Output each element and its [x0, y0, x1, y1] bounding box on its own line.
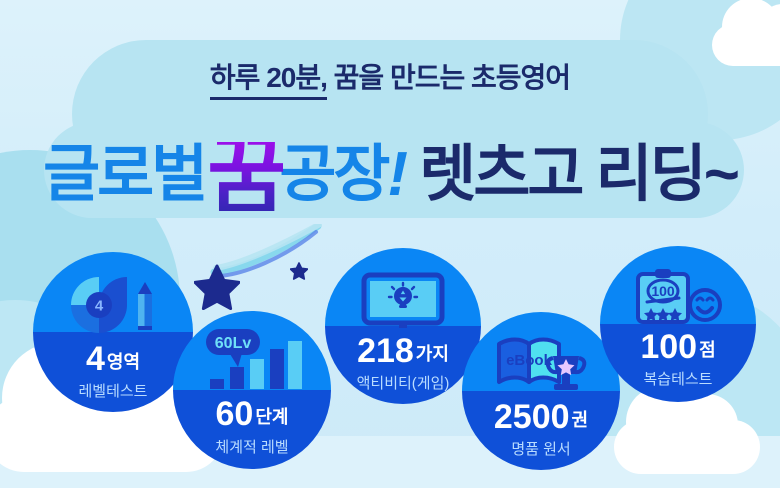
shooting-star-icon [194, 264, 240, 310]
badge-unit: 권 [572, 410, 589, 430]
badge-number-row: 218가지 [325, 332, 481, 371]
badge-level-test[interactable]: 4 4영역 레벨테스트 [33, 252, 193, 412]
clipboard: 100 [638, 269, 688, 322]
badge-number: 4 [86, 340, 105, 379]
badge-number: 100 [640, 328, 697, 367]
bar-chart-level-icon: 60Lv [200, 327, 304, 393]
badge-caption: 명품 원서 [462, 438, 620, 459]
badge-icon-wrap: 60Lv [173, 327, 331, 393]
pie-chart-pencil-icon: 4 [65, 274, 161, 336]
monitor-lightbulb-icon [361, 272, 445, 332]
banner-subtitle-underlined: 하루 20분, [210, 62, 327, 100]
badge-icon-wrap: 100 [600, 268, 756, 326]
badge-caption: 레벨테스트 [33, 380, 193, 401]
badge-number-row: 60단계 [173, 395, 331, 434]
headline-exclamation: ! [387, 140, 405, 209]
banner-subtitle: 하루 20분, 꿈을 만드는 초등영어 [0, 56, 780, 96]
headline-part-global: 글로벌 [43, 140, 205, 209]
badge-icon-wrap [325, 272, 481, 332]
cloud-bottom-right-icon [614, 420, 760, 474]
badge-unit: 가지 [416, 344, 449, 364]
svg-text:eBook: eBook [506, 352, 553, 369]
badge-caption: 액티비티(게임) [325, 372, 481, 393]
badge-number-row: 4영역 [33, 340, 193, 379]
shooting-star-decoration [186, 228, 326, 318]
badge-unit: 단계 [255, 407, 288, 427]
headline-part-letsgo-reading: 렛츠고 리딩~ [419, 140, 737, 209]
smiley [690, 290, 720, 320]
badge-original-books[interactable]: eBook 2500권 명품 원서 [462, 312, 620, 470]
ebook-trophy-icon: eBook [493, 334, 589, 396]
badge-number-row: 100점 [600, 328, 756, 367]
banner-subtitle-rest: 꿈을 만드는 초등영어 [334, 62, 570, 93]
clipboard-score-smiley-icon: 100 [632, 268, 724, 326]
small-star-icon [290, 262, 308, 280]
badge-number: 218 [357, 332, 414, 371]
badge-activity-game[interactable]: 218가지 액티비티(게임) [325, 248, 481, 404]
headline-accent-dream: 꿈 [207, 142, 283, 211]
badge-number: 2500 [494, 398, 570, 437]
svg-text:60Lv: 60Lv [215, 335, 252, 352]
banner-headline: 글로벌꿈공장! 렛츠고 리딩~ [0, 132, 780, 206]
badge-icon-wrap: eBook [462, 334, 620, 396]
badge-caption: 체계적 레벨 [173, 436, 331, 457]
badge-number-row: 2500권 [462, 398, 620, 437]
badge-unit: 영역 [107, 352, 140, 372]
badge-icon-wrap: 4 [33, 274, 193, 336]
headline-part-factory: 공장 [279, 140, 387, 209]
badge-unit: 점 [699, 340, 716, 360]
badge-number: 60 [216, 395, 254, 434]
promo-banner: 하루 20분, 꿈을 만드는 초등영어 글로벌꿈공장! 렛츠고 리딩~ [0, 0, 780, 488]
badge-systematic-level[interactable]: 60Lv 60단계 체계적 레벨 [173, 311, 331, 469]
svg-text:4: 4 [95, 298, 104, 315]
badge-review-test[interactable]: 100 100점 복습테스트 [600, 246, 756, 402]
svg-text:100: 100 [651, 283, 675, 299]
badge-caption: 복습테스트 [600, 368, 756, 389]
